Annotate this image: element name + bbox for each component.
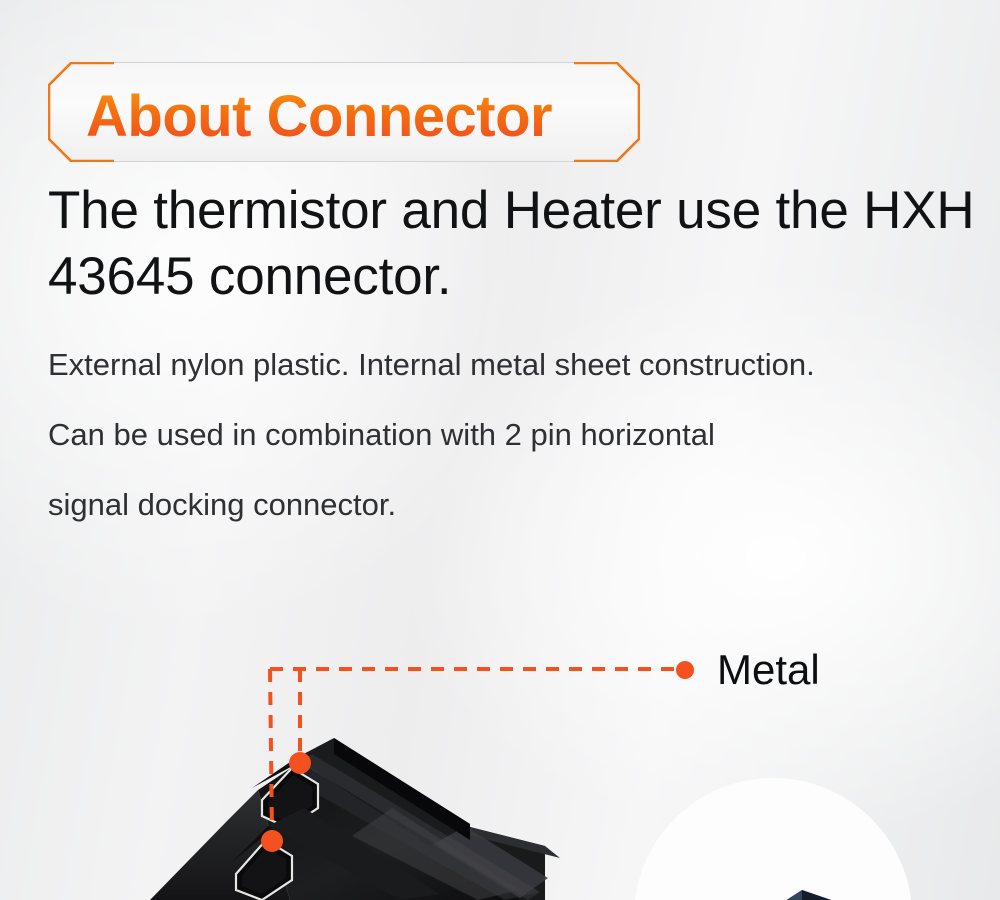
socket-opening-lower [236,840,292,900]
body-line-2: Can be used in combination with 2 pin ho… [48,400,1000,470]
body-line-3: signal docking connector. [48,470,1000,540]
leader-line-left-vertical [270,669,272,834]
inset-connector-photo [634,778,912,900]
callout-endpoint-dot [676,661,694,679]
callout-label-metal: Metal [717,646,820,694]
title-banner: About Connector [48,62,640,162]
body-line-1: External nylon plastic. Internal metal s… [48,330,1000,400]
banner-top-rule [108,62,580,63]
lower-contact-dot [261,830,283,852]
body-copy: External nylon plastic. Internal metal s… [48,330,1000,540]
socket-opening-upper [262,768,318,828]
connector-body [150,738,560,900]
product-infographic-page: About Connector The thermistor and Heate… [0,0,1000,900]
banner-bottom-rule [108,161,580,162]
upper-contact-dot [289,752,311,774]
banner-plate [48,62,640,162]
inset-photo-art [634,778,912,900]
main-heading: The thermistor and Heater use the HXH 43… [48,178,978,310]
